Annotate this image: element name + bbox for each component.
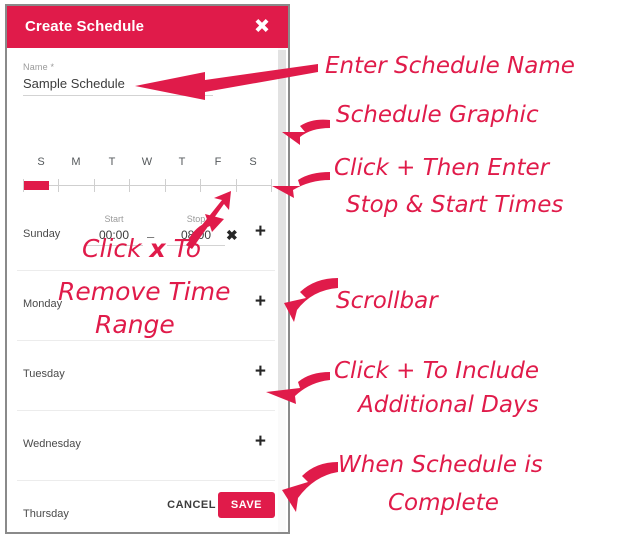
row-separator — [17, 340, 275, 341]
page-title: Create Schedule — [25, 18, 144, 35]
annotation-enter-name: Enter Schedule Name — [325, 53, 575, 79]
schedule-name-label: Name * — [23, 62, 213, 72]
axis-tick — [58, 179, 59, 192]
week-letter: W — [142, 156, 152, 168]
annotation-schedule-graphic: Schedule Graphic — [336, 102, 539, 128]
dialog-header: Create Schedule — [7, 6, 288, 48]
add-time-range-icon[interactable]: + — [255, 292, 266, 311]
row-separator — [17, 480, 275, 481]
axis-tick — [165, 179, 166, 192]
annotation-click-x-line3: Range — [95, 310, 175, 339]
annotation-click-x-a: Click — [82, 234, 150, 263]
day-label-sunday: Sunday — [23, 228, 60, 240]
dialog-body: Name * Sample Schedule SMTWTFS SundaySta… — [7, 48, 288, 493]
week-axis — [23, 178, 271, 192]
scrollbar-thumb[interactable] — [278, 50, 286, 395]
annotation-click-x-line1: Click x To — [82, 234, 201, 263]
week-letter: T — [109, 156, 116, 168]
schedule-block-sunday — [24, 181, 49, 190]
arrow-scrollbar — [284, 278, 338, 322]
day-row: Tuesday+ — [7, 340, 288, 410]
axis-tick — [200, 179, 201, 192]
week-letter: M — [71, 156, 80, 168]
arrow-save-complete — [282, 462, 338, 512]
axis-tick — [129, 179, 130, 192]
add-time-range-icon[interactable]: + — [255, 362, 266, 381]
week-letter: S — [37, 156, 44, 168]
annotation-click-plus-line1: Click + Then Enter — [334, 155, 549, 181]
cancel-button[interactable]: CANCEL — [167, 499, 216, 511]
axis-tick — [271, 179, 272, 192]
remove-time-range-icon[interactable]: ✖ — [226, 227, 238, 244]
day-label-tuesday: Tuesday — [23, 368, 65, 380]
schedule-graphic: SMTWTFS — [23, 156, 271, 192]
add-time-range-icon[interactable]: + — [255, 432, 266, 451]
axis-tick — [23, 179, 24, 192]
start-time-label: Start — [85, 214, 143, 224]
close-icon[interactable] — [250, 15, 274, 39]
row-separator — [17, 410, 275, 411]
row-separator — [17, 270, 275, 271]
week-letter: S — [249, 156, 256, 168]
annotation-include-days-line2: Additional Days — [358, 392, 539, 418]
week-letter: T — [179, 156, 186, 168]
day-row: Wednesday+ — [7, 410, 288, 480]
annotation-click-x-c: To — [166, 234, 201, 263]
save-button[interactable]: SAVE — [218, 492, 275, 518]
axis-tick — [236, 179, 237, 192]
annotation-complete-line1: When Schedule is — [338, 452, 543, 478]
stop-time-label: Stop — [167, 214, 225, 224]
annotation-click-x-b: x — [150, 234, 166, 263]
screenshot-canvas: Create Schedule Name * Sample Schedule S… — [0, 0, 633, 540]
axis-line — [23, 185, 271, 186]
annotation-include-days-line1: Click + To Include — [334, 358, 539, 384]
week-day-letters: SMTWTFS — [23, 156, 271, 172]
add-time-range-icon[interactable]: + — [255, 222, 266, 241]
day-label-wednesday: Wednesday — [23, 438, 81, 450]
schedule-name-input[interactable]: Sample Schedule — [23, 76, 213, 96]
day-label-monday: Monday — [23, 298, 62, 310]
week-letter: F — [215, 156, 222, 168]
annotation-click-x-line2: Remove Time — [58, 277, 230, 306]
axis-tick — [94, 179, 95, 192]
dialog-footer: CANCEL SAVE — [7, 486, 288, 532]
annotation-complete-line2: Complete — [388, 490, 499, 516]
annotation-click-plus-line2: Stop & Start Times — [346, 192, 563, 218]
annotation-scrollbar: Scrollbar — [336, 288, 438, 314]
create-schedule-dialog: Create Schedule Name * Sample Schedule S… — [5, 4, 290, 534]
schedule-name-field[interactable]: Name * Sample Schedule — [23, 62, 213, 96]
